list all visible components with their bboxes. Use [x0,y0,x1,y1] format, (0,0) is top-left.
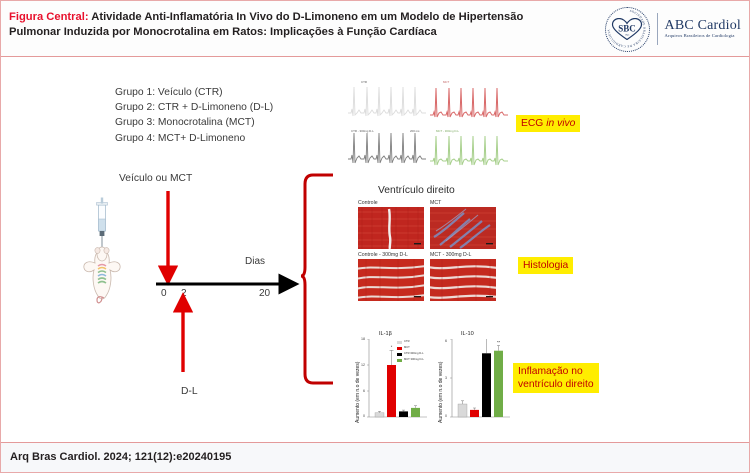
chart-title-il1b: IL-1β [379,331,392,337]
footer-bar: Arq Bras Cardiol. 2024; 121(12):e2024019… [1,442,749,472]
vehicle-arrow-label: Veículo ou MCT [119,173,192,184]
ecg-trace-ctr-dl [348,129,426,173]
bar-il1b-mct-dl [411,408,420,417]
logo-divider [657,13,658,45]
ecg-trace-ctr [348,79,426,123]
list-item: Grupo 4: MCT+ D-Limoneno [115,131,273,146]
legend-label-ctr: CTR [404,340,410,343]
ytick-il1b-6: 6 [363,389,365,393]
histology-image-controle-dl [358,259,424,301]
page-title: Figura Central: Atividade Anti-Inflamató… [9,10,579,40]
histology-label-mct: MCT [430,200,441,206]
title-line-2: Pulmonar Induzida por Monocrotalina em R… [9,26,437,38]
callout-ecg-text: ECG [521,118,546,129]
callout-inflammation-line2: ventrículo direito [518,378,594,391]
ecg-scale-label: 200 ms [410,129,419,133]
header-bar: Figura Central: Atividade Anti-Inflamató… [1,1,749,57]
bar-il1b-ctr [375,413,384,417]
ytick-il10-6: 6 [445,339,447,343]
ytick-il10-3: 3 [445,376,447,380]
sig-il10-mct-dl: ** [497,340,501,345]
journal-subtitle: Arquivos Brasileiros de Cardiologia [665,34,741,39]
syringe-icon [97,198,108,249]
callout-inflammation-line1: Inflamação no [518,365,594,378]
ecg-trace-mct-dl [430,129,508,173]
figure-page: Figura Central: Atividade Anti-Inflamató… [0,0,750,473]
list-item: Grupo 2: CTR + D-Limoneno (D-L) [115,100,273,115]
bar-il10-mct [470,410,479,417]
bar-il1b-ctr-dl [399,411,408,417]
chart-plot-il10: * ** [450,339,512,421]
title-line-1: Atividade Anti-Inflamatória In Vivo do D… [89,11,524,23]
legend-label-mct: MCT [404,346,410,349]
rat-body [84,247,120,303]
ytick-il1b-0: 0 [363,414,365,418]
ytick-il10-0: 0 [445,414,447,418]
histology-image-controle [358,207,424,249]
list-item: Grupo 1: Veículo (CTR) [115,85,273,100]
callout-histology: Histologia [518,257,573,274]
histology-image-mct [430,207,496,249]
grouping-brace [301,171,341,391]
citation: Arq Bras Cardiol. 2024; 121(12):e2024019… [10,451,231,463]
rat-injection-illustration [73,197,131,309]
chart-ylabel-il10: Aumento (em n.o de vezes) [438,362,444,423]
sbc-year-text: 1943 [624,35,629,37]
callout-ecg: ECG in vivo [516,115,580,132]
ytick-il1b-12: 12 [361,363,365,367]
ecg-panel: CTR MCT CTR - 300mg D-L 200 ms MCT - 300… [348,79,508,174]
ytick-il1b-18: 18 [361,337,365,341]
bar-il10-ctr [458,404,467,417]
histology-title: Ventrículo direito [378,185,455,196]
chart-title-il10: IL-10 [461,331,474,337]
timeline-diagram [151,187,311,387]
bar-il10-ctr-dl [482,353,491,417]
journal-name-block: ABC Cardiol Arquivos Brasileiros de Card… [665,19,741,40]
heart-icon: SBC 1943 [611,18,643,40]
histology-image-mct-dl [430,259,496,301]
legend-swatch-mct [397,347,402,350]
group-list: Grupo 1: Veículo (CTR) Grupo 2: CTR + D-… [115,85,273,146]
legend-swatch-mct-dl [397,359,402,362]
sbc-seal-icon: SOCIEDADE BRASILEIRA DE CARDIOLOGIA SBC … [604,7,650,51]
journal-title: ABC Cardiol [665,19,741,34]
sig-il1b-mct: * [391,344,393,349]
legend-swatch-ctr [397,341,402,344]
histology-label-mct-dl: MCT - 300mg D-L [430,252,471,258]
ecg-label-ctr-dl: CTR - 300mg D-L [351,129,374,133]
dl-arrow-label: D-L [181,386,198,397]
legend-label-ctr-dl: CTR 300mg D-L [404,352,424,355]
ecg-label-mct: MCT [443,80,449,84]
bar-il1b-mct [387,365,396,417]
bar-il10-mct-dl [494,351,503,417]
ecg-label-ctr: CTR [361,80,367,84]
sbc-abc-logo: SOCIEDADE BRASILEIRA DE CARDIOLOGIA SBC … [604,7,741,51]
callout-inflammation: Inflamação no ventrículo direito [513,363,599,393]
chart-ylabel-il1b: Aumento (em n.o de vezes) [355,362,361,423]
histology-label-controle-dl: Controle - 300mg D-L [358,252,408,258]
figure-label: Figura Central: [9,11,89,23]
callout-ecg-italic: in vivo [546,118,575,129]
ecg-trace-mct [430,79,508,123]
histology-label-controle: Controle [358,200,378,206]
inflammation-charts: IL-1β Aumento (em n.o de vezes) 18 12 6 … [353,331,508,426]
ecg-label-mct-dl: MCT - 300mg D-L [436,129,459,133]
legend-label-mct-dl: MCT 300mg D-L [404,358,424,361]
legend-swatch-ctr-dl [397,353,402,356]
sbc-mark-text: SBC [618,24,636,34]
list-item: Grupo 3: Monocrotalina (MCT) [115,115,273,130]
